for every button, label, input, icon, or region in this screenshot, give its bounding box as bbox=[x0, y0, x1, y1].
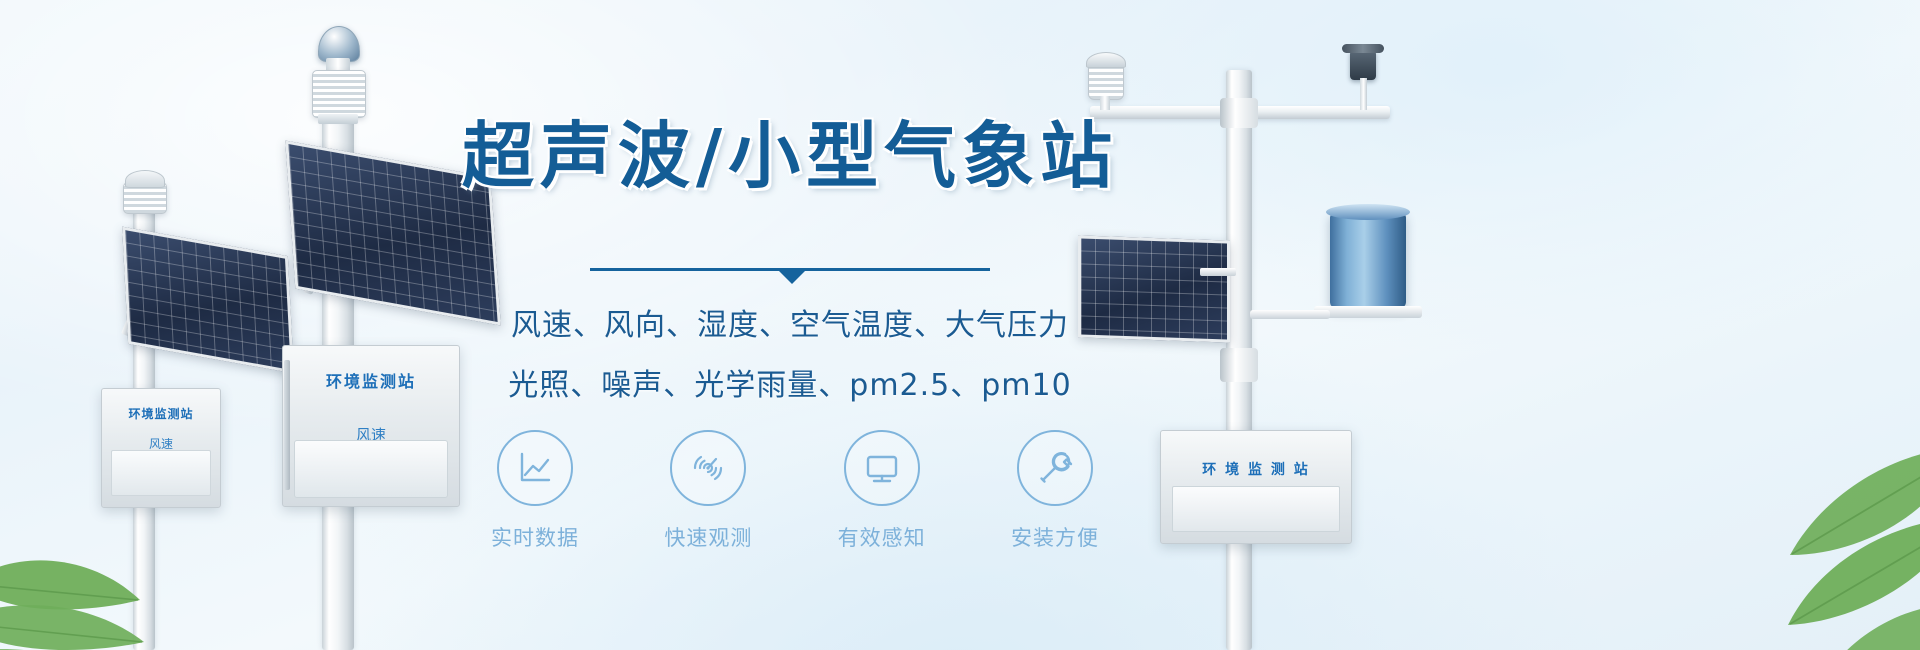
cabinet-door-3 bbox=[1172, 486, 1340, 532]
feature-icon-ring-2 bbox=[670, 430, 746, 506]
wind-vane-cups bbox=[1342, 44, 1384, 53]
monitor-screen-icon bbox=[862, 448, 902, 488]
shield-base-2 bbox=[318, 114, 358, 124]
wrench-icon bbox=[1035, 448, 1075, 488]
mast-collar-upper bbox=[1220, 98, 1258, 128]
product-banner: 环境监测站 风速 环境监测站 风速 bbox=[0, 0, 1920, 650]
cabinet-door-2 bbox=[294, 440, 448, 498]
rain-gauge-rim bbox=[1326, 204, 1410, 220]
rain-gauge-shelf bbox=[1314, 306, 1422, 318]
line-chart-icon bbox=[515, 448, 555, 488]
feature-item-realtime-data[interactable]: 实时数据 bbox=[470, 430, 600, 552]
radiation-shield-sensor-2 bbox=[312, 70, 366, 118]
mast-collar-lower bbox=[1220, 348, 1258, 382]
feature-icon-ring-3 bbox=[844, 430, 920, 506]
wind-vane-mast bbox=[1360, 78, 1367, 110]
feature-icon-ring-1 bbox=[497, 430, 573, 506]
leaf-decoration-left bbox=[0, 450, 220, 650]
title-divider bbox=[590, 268, 990, 282]
divider-triangle-icon bbox=[779, 271, 805, 284]
subtitle-line-2: 光照、噪声、光学雨量、pm2.5、pm10 bbox=[430, 360, 1150, 404]
feature-item-easy-installation[interactable]: 安装方便 bbox=[990, 430, 1120, 552]
rain-gauge-arm bbox=[1250, 310, 1330, 319]
feature-list: 实时数据 快 bbox=[470, 430, 1120, 552]
leaf-decoration-right bbox=[1640, 390, 1920, 650]
feature-item-effective-sensing[interactable]: 有效感知 bbox=[817, 430, 947, 552]
cabinet-label-1: 环境监测站 bbox=[102, 405, 220, 422]
radar-scan-icon bbox=[688, 448, 728, 488]
page-title: 超声波/小型气象站 bbox=[430, 120, 1150, 192]
feature-label-4: 安装方便 bbox=[990, 522, 1120, 552]
feature-label-1: 实时数据 bbox=[470, 522, 600, 552]
feature-icon-ring-4 bbox=[1017, 430, 1093, 506]
banner-content: 超声波/小型气象站 风速、风向、湿度、空气温度、大气压力 光照、噪声、光学雨量、… bbox=[430, 0, 1150, 650]
solar-panel-3-bracket bbox=[1200, 268, 1236, 276]
feature-label-3: 有效感知 bbox=[817, 522, 947, 552]
subtitle-line-1: 风速、风向、湿度、空气温度、大气压力 bbox=[430, 300, 1150, 344]
feature-item-fast-observation[interactable]: 快速观测 bbox=[643, 430, 773, 552]
sensor-cap-1 bbox=[125, 170, 165, 188]
ultrasonic-dome-sensor bbox=[318, 26, 360, 62]
cabinet-hinge-2 bbox=[284, 360, 290, 490]
wind-vane-sensor bbox=[1350, 50, 1376, 80]
cabinet-label-3: 环 境 监 测 站 bbox=[1161, 459, 1351, 479]
rain-gauge-sensor bbox=[1330, 212, 1406, 308]
feature-label-2: 快速观测 bbox=[643, 522, 773, 552]
